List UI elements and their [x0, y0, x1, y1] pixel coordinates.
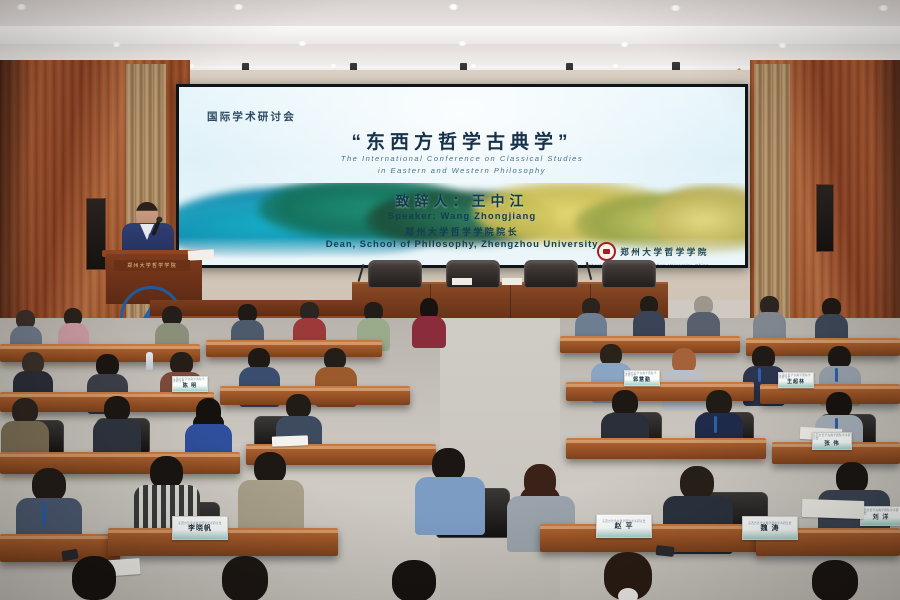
lecture-hall-photo: ❖ ❖ 国际学术研讨会 “东西方哲学古典学” The International…	[0, 0, 900, 600]
downlight-icon	[778, 43, 787, 48]
downlight-icon	[458, 41, 467, 46]
slide-kicker: 国际学术研讨会	[207, 109, 296, 124]
downlight-icon	[878, 5, 889, 11]
desk-name-card: 东西方哲学古典学国际学术研讨会 赵 平	[596, 514, 652, 538]
downlight-icon	[112, 42, 121, 47]
right-speaker-grille	[816, 184, 834, 252]
downlight-icon	[448, 4, 459, 10]
projection-screen: 国际学术研讨会 “东西方哲学古典学” The International Con…	[179, 87, 745, 265]
downlight-icon	[298, 41, 307, 46]
hair-scrunchie	[618, 588, 638, 600]
panel-chair	[602, 260, 656, 288]
downlight-icon	[612, 64, 619, 68]
attendee-head	[72, 556, 116, 600]
attendee-head	[392, 560, 436, 600]
downlight-icon	[233, 4, 244, 10]
slide-subtitle-line2: in Eastern and Western Philosophy	[179, 165, 745, 177]
downlight-icon	[16, 4, 27, 10]
projection-screen-frame: 国际学术研讨会 “东西方哲学古典学” The International Con…	[176, 84, 748, 268]
slide-speaker-en: Speaker: Wang Zhongjiang	[179, 211, 745, 222]
attendee-head	[222, 556, 268, 600]
ceiling-cove-light	[0, 26, 900, 44]
panel-chair	[524, 260, 578, 288]
desk-name-card: 东西方哲学古典学国际学术研讨会 李晓帆	[172, 516, 228, 540]
desk-name-card: 东西方哲学古典学国际学术研讨会 刘 洋	[860, 506, 900, 526]
downlight-icon	[670, 5, 681, 11]
podium-sign: 郑州大学哲学学院	[114, 260, 190, 271]
table-papers	[502, 278, 522, 285]
podium-sign-text: 郑州大学哲学学院	[127, 262, 177, 269]
attendee-head	[680, 466, 714, 500]
downlight-icon	[470, 64, 477, 68]
slide-subtitle-line1: The International Conference on Classica…	[179, 153, 745, 165]
name-card-name: 李晓帆	[188, 525, 212, 533]
organizer-logo: 郑州大学哲学学院	[597, 242, 709, 261]
water-bottle	[146, 352, 153, 370]
podium-papers	[188, 249, 214, 260]
table-papers	[452, 278, 472, 285]
lanyard	[42, 502, 46, 526]
attendee-torso	[415, 477, 485, 535]
downlight-icon	[330, 64, 337, 68]
smartphone-icon	[656, 545, 675, 557]
slide-affiliation-cn: 郑州大学哲学学院院长	[179, 225, 745, 238]
desk-papers	[802, 499, 865, 519]
lanyard	[714, 416, 717, 433]
organizer-logo-icon	[597, 242, 616, 261]
attendee-head	[32, 468, 66, 502]
name-card-name: 魏 涛	[761, 525, 780, 533]
slide-title: “东西方哲学古典学”	[179, 127, 745, 154]
name-card-name: 赵 平	[615, 523, 634, 531]
name-card-name: 刘 洋	[873, 515, 890, 522]
downlight-icon	[620, 42, 629, 47]
attendee-head	[812, 560, 858, 600]
slide-subtitle: The International Conference on Classica…	[179, 153, 745, 177]
slide-speaker-cn: 致辞人：王中江	[179, 191, 745, 211]
organizer-logo-cn: 郑州大学哲学学院	[620, 246, 709, 258]
panel-chair	[368, 260, 422, 288]
desk-name-card: 东西方哲学古典学国际学术研讨会 魏 涛	[742, 516, 798, 540]
